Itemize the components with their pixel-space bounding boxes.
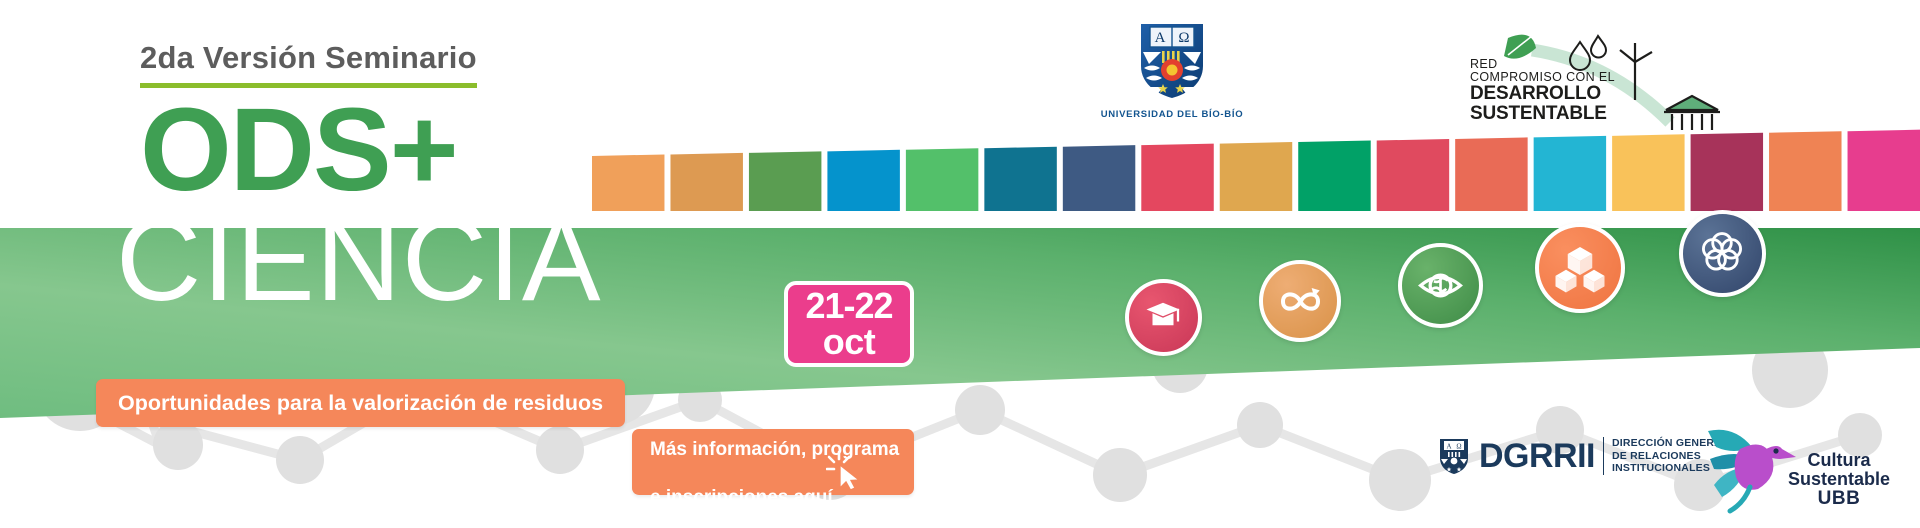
ubb-caption: UNIVERSIDAD DEL BÍO-BÍO [1062,109,1282,120]
event-banner: 2da Versión Seminario ODS+ CIENCIA 21-22… [0,0,1920,528]
date-day-range: 21-22 [805,288,892,324]
sdg-square-9 [1220,142,1292,211]
sdg-square-14 [1612,134,1684,211]
cta-line-2: e inscripciones aquí [650,487,833,508]
ubb-shield-small-icon: A Ω [1437,436,1471,476]
cultura-line-3: UBB [1788,489,1890,509]
red-logo-text: RED COMPROMISO CON EL DESARROLLO SUSTENT… [1470,58,1615,124]
topic-circle-eye-globe [1398,243,1483,328]
sdg-square-13 [1534,136,1606,211]
sdg-square-16 [1769,131,1841,211]
ubb-logo: A Ω [1062,18,1282,120]
graduation-cap-icon [1139,293,1187,341]
cultura-line-1: Cultura [1788,451,1890,470]
cultura-logo-text: Cultura Sustentable UBB [1788,451,1890,509]
sdg-square-8 [1141,144,1213,211]
seminar-kicker: 2da Versión Seminario [140,40,477,88]
topic-circle-graduation-cap [1125,279,1202,356]
sdg-square-7 [1063,145,1135,211]
red-desarrollo-sustentable-logo: RED COMPROMISO CON EL DESARROLLO SUSTENT… [1470,22,1730,132]
ubb-shield-icon: A Ω [1135,18,1209,100]
red-line-4: SUSTENTABLE [1470,104,1615,124]
svg-text:A: A [1446,443,1451,451]
infinity-recycle-icon [1275,276,1326,327]
sdg-square-4 [827,150,899,211]
sdg-square-5 [906,148,978,211]
flower-network-icon [1695,226,1749,280]
red-line-3: DESARROLLO [1470,84,1615,104]
sdg-square-3 [749,151,821,211]
more-info-button[interactable]: Más información, programa e inscripcione… [632,429,914,495]
cultura-sustentable-logo: Cultura Sustentable UBB [1700,415,1890,515]
topic-circle-infinity-recycle [1259,260,1341,342]
molecule-pattern-decoration [0,330,1920,528]
dgrrii-logo: A Ω DGRRII DIRECCIÓN GENERAL DE RELACION… [1437,436,1729,476]
topic-circle-cubes [1535,223,1625,313]
leaf-icon [1504,35,1536,59]
sdg-color-squares [592,126,1920,211]
cultura-line-2: Sustentable [1788,470,1890,489]
sdg-square-11 [1377,139,1449,211]
svg-text:A: A [1155,30,1166,46]
date-month: oct [823,324,876,360]
sdg-square-6 [984,147,1056,211]
title-ods: ODS+ [140,102,477,199]
headline-block: 2da Versión Seminario ODS+ [140,40,477,199]
sdg-square-17 [1848,130,1920,211]
sdg-square-12 [1455,137,1527,211]
title-ciencia: CIENCIA [116,212,602,309]
building-icon [1664,96,1720,130]
click-cursor-icon [826,447,868,491]
sdg-square-10 [1298,141,1370,212]
svg-text:Ω: Ω [1178,30,1189,46]
subtitle-text: Oportunidades para la valorización de re… [118,391,603,416]
topic-circle-flower-network [1679,210,1766,297]
sdg-square-15 [1691,133,1763,211]
sdg-square-1 [592,154,664,211]
dgrrii-acronym: DGRRII [1479,437,1595,476]
subtitle-bar: Oportunidades para la valorización de re… [96,379,625,427]
sdg-square-2 [670,153,742,211]
eye-globe-icon [1414,259,1467,312]
svg-text:Ω: Ω [1456,443,1461,451]
date-badge: 21-22 oct [784,281,914,367]
cubes-icon [1552,240,1608,296]
